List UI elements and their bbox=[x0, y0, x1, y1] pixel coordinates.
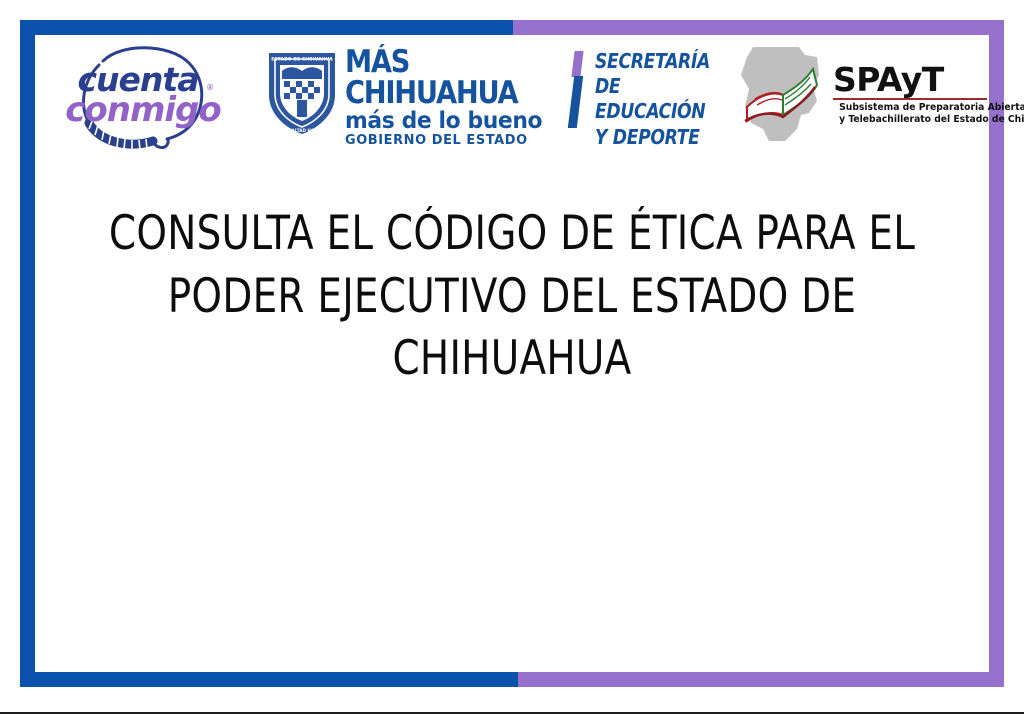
svg-text:VALENTIA LEALTAD HOSPITALIDAD: VALENTIA LEALTAD HOSPITALIDAD bbox=[265, 128, 339, 133]
secretaria-line2: DE EDUCACIÓN bbox=[595, 74, 715, 124]
frame-bottom-blue-segment bbox=[20, 672, 518, 687]
frame-bottom-purple-segment bbox=[518, 672, 1004, 687]
secretaria-line1: SECRETARÍA bbox=[595, 49, 715, 74]
cuenta-conmigo-line2: conmigo bbox=[53, 95, 233, 126]
secretaria-line3: Y DEPORTE bbox=[595, 125, 715, 150]
spayt-logo: SPAyT Subsistema de Preparatoria Abierta… bbox=[725, 41, 987, 153]
title-block: CONSULTA EL CÓDIGO DE ÉTICA PARA EL PODE… bbox=[55, 203, 969, 391]
mas-chihuahua-logo: ESTADO DE CHIHUAHUA VALENTIA LEALTAD HOS… bbox=[265, 45, 555, 149]
divider-bar-blue bbox=[568, 76, 583, 128]
slide-content-area: cuenta conmigo ® bbox=[35, 35, 989, 672]
mas-chihuahua-line3: GOBIERNO DEL ESTADO bbox=[345, 133, 549, 149]
spayt-acronym: SPAyT bbox=[833, 63, 987, 96]
spayt-subtitle-line2: y Telebachillerato del Estado de Chihuah… bbox=[839, 114, 981, 127]
mas-chihuahua-line2: más de lo bueno bbox=[345, 109, 546, 133]
divider-bar-purple bbox=[571, 51, 583, 77]
secretaria-educacion-deporte-logo: SECRETARÍA DE EDUCACIÓN Y DEPORTE bbox=[565, 47, 735, 147]
slide-body-area bbox=[55, 415, 969, 655]
cuenta-conmigo-logo: cuenta conmigo ® bbox=[43, 39, 233, 155]
institutional-logo-bar: cuenta conmigo ® bbox=[35, 35, 989, 155]
presentation-slide: cuenta conmigo ® bbox=[0, 0, 1024, 720]
svg-text:ESTADO DE CHIHUAHUA: ESTADO DE CHIHUAHUA bbox=[271, 57, 333, 63]
registered-trademark-mark: ® bbox=[207, 83, 213, 92]
page-title: CONSULTA EL CÓDIGO DE ÉTICA PARA EL PODE… bbox=[92, 203, 933, 391]
page-bottom-edge-line bbox=[0, 712, 1024, 714]
chihuahua-map-with-book-icon bbox=[725, 41, 841, 149]
spayt-subtitle-line1: Subsistema de Preparatoria Abierta bbox=[839, 102, 981, 115]
frame-top-blue-segment bbox=[20, 20, 513, 35]
frame-top-purple-segment bbox=[513, 20, 1004, 35]
mas-chihuahua-line1: MÁS CHIHUAHUA bbox=[345, 47, 532, 109]
frame-left-blue-segment bbox=[20, 20, 35, 687]
chihuahua-state-shield-icon: ESTADO DE CHIHUAHUA VALENTIA LEALTAD HOS… bbox=[265, 47, 339, 137]
